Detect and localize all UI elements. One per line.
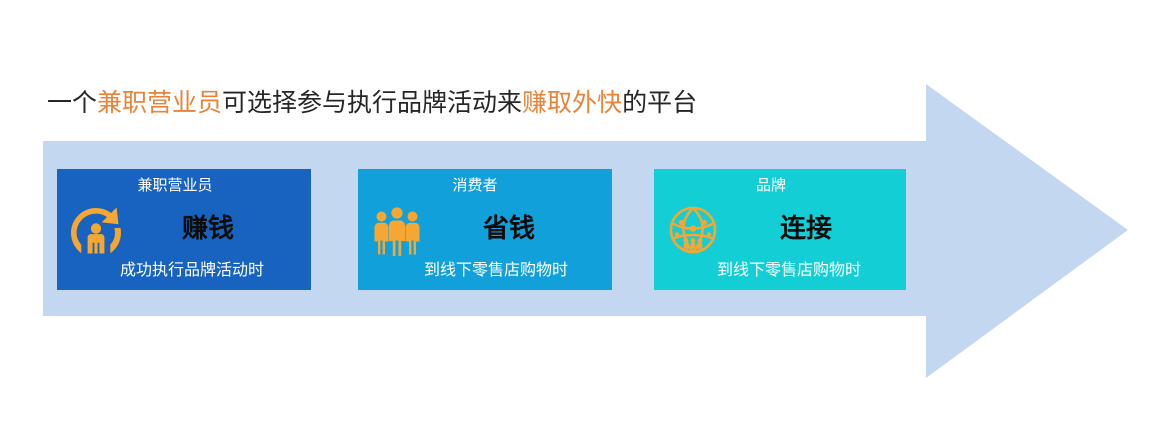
card-title: 品牌 xyxy=(654,176,897,196)
slide-canvas: 一个兼职营业员可选择参与执行品牌活动来赚取外快的平台 兼职营业员 赚钱 成功执行… xyxy=(0,0,1150,430)
card-title: 消费者 xyxy=(358,176,602,196)
card-headline: 赚钱 xyxy=(81,213,311,245)
card-brand[interactable]: 品牌 连接 到线下零售店购物时 xyxy=(654,169,906,290)
card-caption: 成功执行品牌活动时 xyxy=(65,260,311,282)
card-caption: 到线下零售店购物时 xyxy=(663,260,906,282)
card-consumer[interactable]: 消费者 省钱 到线下零售店购物时 xyxy=(358,169,612,290)
card-headline: 省钱 xyxy=(382,213,612,245)
card-title: 兼职营业员 xyxy=(57,176,302,196)
card-part-time-promoter[interactable]: 兼职营业员 赚钱 成功执行品牌活动时 xyxy=(57,169,311,290)
card-caption: 到线下零售店购物时 xyxy=(369,260,612,282)
card-headline: 连接 xyxy=(680,213,906,245)
